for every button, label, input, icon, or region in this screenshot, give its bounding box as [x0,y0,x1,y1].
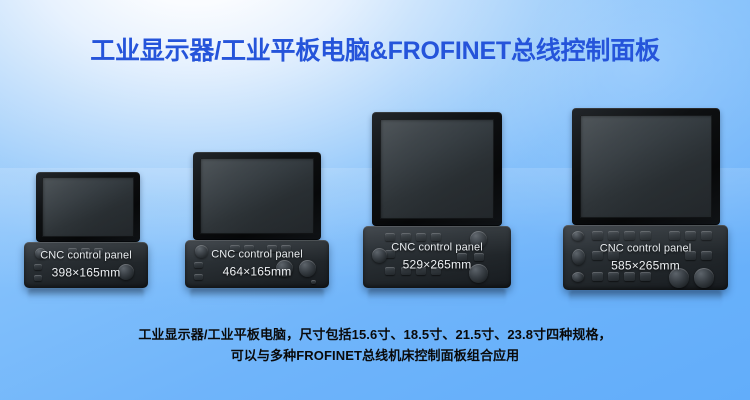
panel-button[interactable] [608,231,619,240]
panel-button[interactable] [685,231,696,240]
device-reflection [569,290,722,308]
panel-button[interactable] [385,267,395,275]
device-reflection [190,288,324,305]
panel-knob[interactable] [299,260,316,277]
control-panel-body[interactable]: CNC control panel 464×165mm [185,240,329,288]
display-screen [42,177,134,237]
panel-button[interactable] [311,280,316,284]
panel-button[interactable] [624,231,635,240]
panel-knob[interactable] [694,268,714,288]
panel-button[interactable] [34,264,42,270]
panel-knob[interactable] [118,264,134,280]
panel-button[interactable] [68,248,77,255]
panel-button[interactable] [669,231,680,240]
monitor-bezel [572,108,720,225]
panel-button[interactable] [608,272,619,281]
panel-knob[interactable] [469,264,488,283]
promo-banner: 工业显示器/工业平板电脑&FROFINET总线控制面板 CNC control … [0,0,750,400]
display-screen [380,119,494,219]
panel-button[interactable] [592,251,603,260]
panel-button[interactable] [592,231,603,240]
panel-button[interactable] [281,245,291,252]
panel-button[interactable] [267,245,277,252]
monitor-bezel [193,152,321,240]
panel-button[interactable] [685,251,696,260]
panel-button[interactable] [701,251,712,260]
panel-button[interactable] [416,267,426,275]
panel-button[interactable] [608,251,619,260]
panel-button[interactable] [401,267,411,275]
device-card-21-5[interactable]: CNC control panel 529×265mm [363,112,511,288]
panel-button[interactable] [624,272,635,281]
panel-knob[interactable] [572,249,585,265]
panel-knob[interactable] [372,248,387,263]
control-panel-body[interactable]: CNC control panel 585×265mm [563,225,728,290]
panel-button[interactable] [94,248,103,255]
panel-knob[interactable] [572,231,584,241]
control-panel-body[interactable]: CNC control panel 529×265mm [363,226,511,288]
panel-knob[interactable] [669,268,689,288]
device-card-15-6[interactable]: CNC control panel 398×165mm [24,172,148,288]
panel-button[interactable] [640,231,651,240]
display-screen [200,158,314,234]
panel-knob[interactable] [470,231,487,248]
panel-knob[interactable] [572,272,584,282]
footer-caption: 工业显示器/工业平板电脑，尺寸包括15.6寸、18.5寸、21.5寸、23.8寸… [0,324,750,366]
panel-button[interactable] [416,233,426,241]
panel-knob[interactable] [276,260,293,277]
panel-button[interactable] [457,253,467,261]
panel-button[interactable] [230,245,240,252]
device-reflection [368,288,506,306]
panel-button[interactable] [592,272,603,281]
panel-button[interactable] [401,233,411,241]
panel-button[interactable] [34,275,42,281]
device-reflection [28,288,144,304]
footer-line-2: 可以与多种FROFINET总线机床控制面板组合应用 [0,345,750,366]
panel-button[interactable] [244,245,254,252]
panel-button[interactable] [194,274,203,280]
panel-button[interactable] [431,267,441,275]
panel-button[interactable] [701,231,712,240]
panel-button[interactable] [640,272,651,281]
panel-button[interactable] [194,262,203,268]
footer-line-1: 工业显示器/工业平板电脑，尺寸包括15.6寸、18.5寸、21.5寸、23.8寸… [0,324,750,345]
monitor-bezel [36,172,140,242]
device-card-18-5[interactable]: CNC control panel 464×165mm [185,152,329,288]
monitor-bezel [372,112,502,226]
device-card-23-8[interactable]: CNC control panel 585×265mm [563,108,728,290]
panel-button[interactable] [431,233,441,241]
panel-button[interactable] [385,233,395,241]
panel-knob[interactable] [35,248,46,259]
panel-button[interactable] [474,253,484,261]
panel-button[interactable] [81,248,90,255]
control-panel-body[interactable]: CNC control panel 398×165mm [24,242,148,288]
display-screen [580,115,712,218]
panel-knob[interactable] [195,245,208,258]
